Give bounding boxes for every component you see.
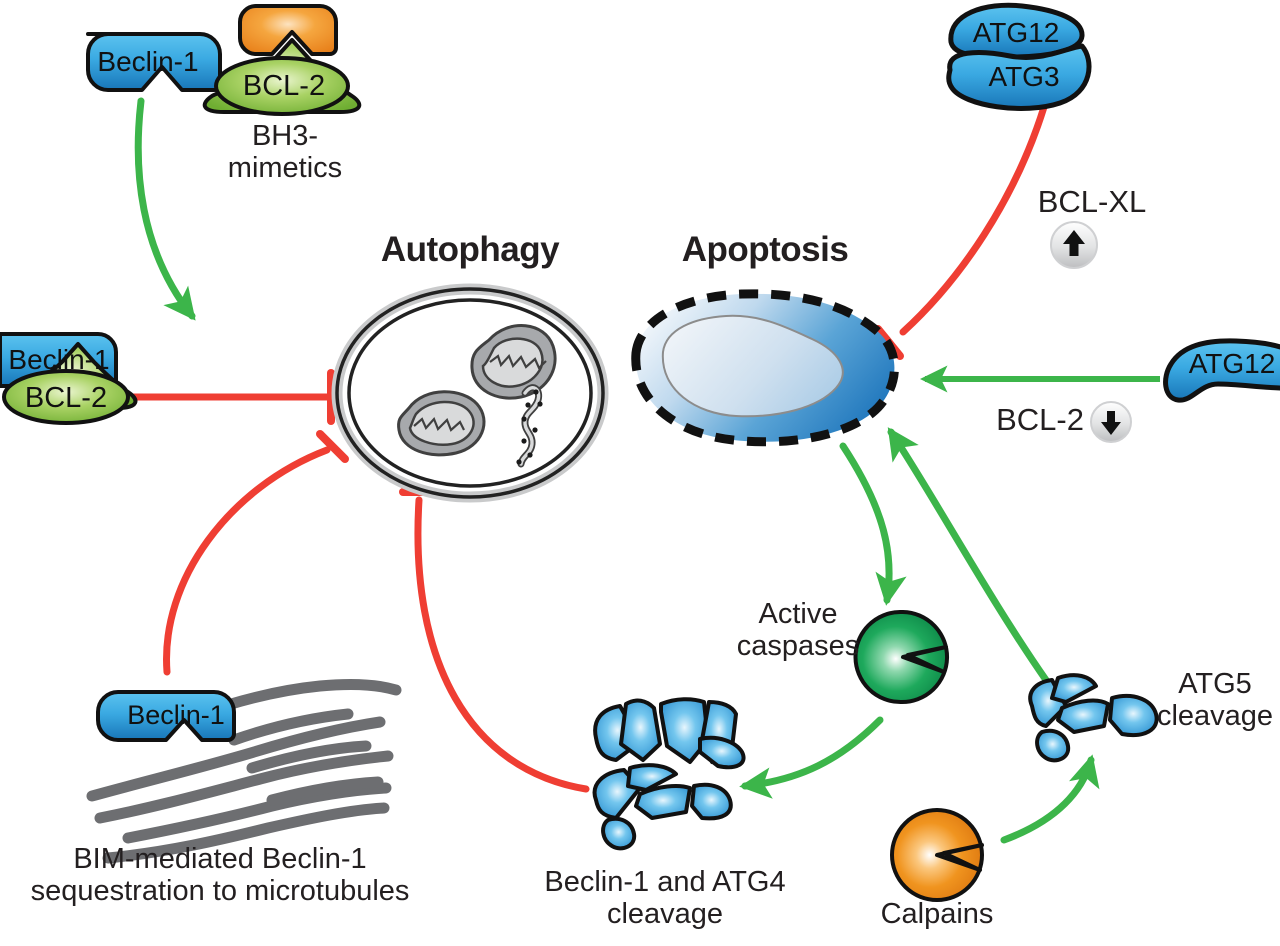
caption-calpains: Calpains	[862, 898, 1012, 930]
edge-atg12atg3-inhibits-apoptosis	[878, 107, 1044, 356]
node-apoptotic-cell[interactable]	[636, 294, 895, 442]
page-title-autophagy: Autophagy	[370, 230, 570, 269]
node-beclin1-microtubule[interactable]	[98, 692, 234, 740]
edge-beclin1-bcl2-inhibits-autophagy	[118, 373, 331, 421]
edge-caspases-activate-cleavage	[745, 720, 880, 786]
figure-canvas: Autophagy Apoptosis Beclin-1 BCL-2 BH3- …	[0, 0, 1280, 946]
label-bcl2-right: BCL-2	[980, 403, 1100, 438]
page-title-apoptosis: Apoptosis	[665, 230, 865, 269]
caption-beclin-atg4-cleavage: Beclin-1 and ATG4 cleavage	[490, 866, 840, 931]
edge-calpains-activate-atg5-cleavage	[1004, 760, 1091, 840]
node-beclin-atg4-cleavage[interactable]	[595, 699, 744, 848]
label-bcl-xl: BCL-XL	[1022, 185, 1162, 220]
node-atg12-atg3[interactable]	[949, 5, 1089, 108]
caption-bh3-mimetics: BH3- mimetics	[210, 120, 360, 185]
node-beclin1-free[interactable]	[88, 34, 220, 90]
edge-beclin1-activates-autophagy	[138, 101, 192, 316]
badge-bcl-xl-up-arrow	[1051, 222, 1097, 268]
caption-active-caspases: Active caspases	[718, 598, 878, 663]
node-calpains[interactable]	[892, 810, 982, 900]
caption-microtubules: BIM-mediated Beclin-1 sequestration to m…	[0, 843, 440, 908]
node-atg12-right[interactable]	[1166, 341, 1280, 400]
caption-atg5-cleavage: ATG5 cleavage	[1150, 668, 1280, 733]
pathway-diagram	[0, 0, 1280, 946]
edge-microtubules-inhibit-autophagy	[167, 434, 345, 672]
node-autophagosome[interactable]	[337, 289, 603, 497]
edge-cleavage-inhibits-autophagy	[403, 492, 586, 789]
node-atg5-cleavage[interactable]	[1030, 675, 1156, 760]
edge-apoptosis-activates-caspases	[843, 446, 889, 600]
